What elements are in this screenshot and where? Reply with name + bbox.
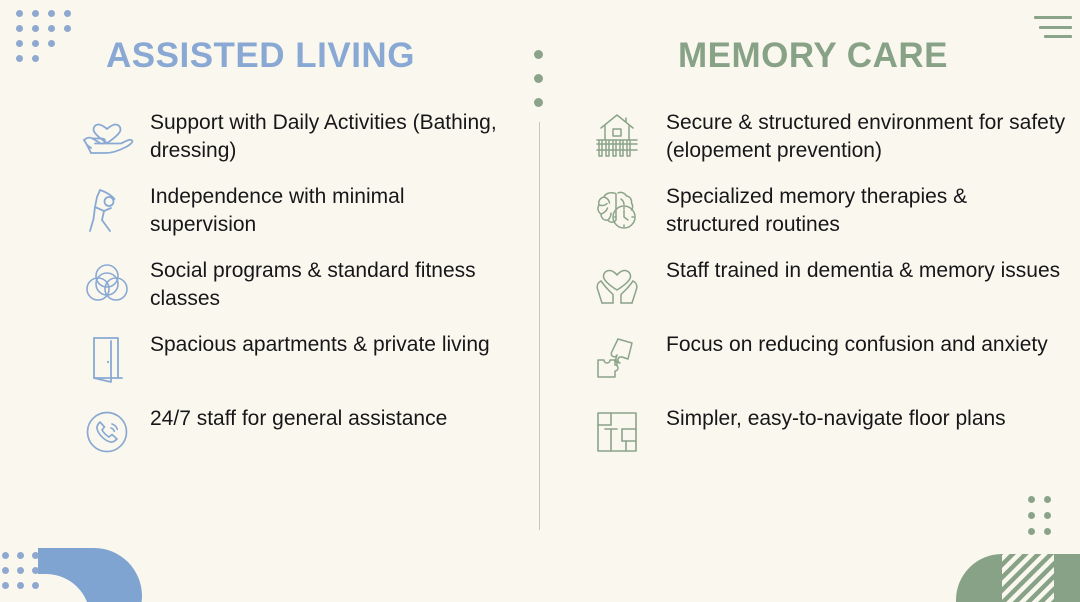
feature-item: Simpler, easy-to-navigate floor plans [586, 401, 1066, 463]
person-stretching-icon [76, 179, 138, 241]
column-title-memory-care: MEMORY CARE [678, 38, 1066, 73]
brain-clock-icon [586, 179, 648, 241]
house-with-fence-icon [586, 105, 648, 167]
feature-text: Social programs & standard fitness class… [150, 253, 506, 313]
feature-text: Staff trained in dementia & memory issue… [666, 253, 1060, 285]
feature-item: Independence with minimal supervision [76, 179, 506, 241]
open-door-icon [76, 327, 138, 389]
feature-item: Staff trained in dementia & memory issue… [586, 253, 1066, 315]
phone-ringing-icon [76, 401, 138, 463]
feature-text: Spacious apartments & private living [150, 327, 490, 359]
feature-text: Independence with minimal supervision [150, 179, 506, 239]
floor-plan-icon [586, 401, 648, 463]
heart-in-hand-icon [76, 105, 138, 167]
feature-item: Focus on reducing confusion and anxiety [586, 327, 1066, 389]
feature-item: 24/7 staff for general assistance [76, 401, 506, 463]
feature-item: Social programs & standard fitness class… [76, 253, 506, 315]
column-title-assisted-living: ASSISTED LIVING [106, 38, 506, 73]
comparison-columns: ASSISTED LIVING Support with Daily Activ… [0, 0, 1080, 602]
feature-item: Specialized memory therapies & structure… [586, 179, 1066, 241]
feature-text: Support with Daily Activities (Bathing, … [150, 105, 506, 165]
feature-item: Spacious apartments & private living [76, 327, 506, 389]
puzzle-pieces-icon [586, 327, 648, 389]
feature-text: Specialized memory therapies & structure… [666, 179, 1066, 239]
feature-item: Secure & structured environment for safe… [586, 105, 1066, 167]
slide-canvas: ASSISTED LIVING Support with Daily Activ… [0, 0, 1080, 602]
feature-text: Focus on reducing confusion and anxiety [666, 327, 1048, 359]
column-memory-care: MEMORY CARE [586, 38, 1066, 475]
feature-text: 24/7 staff for general assistance [150, 401, 447, 433]
feature-text: Secure & structured environment for safe… [666, 105, 1066, 165]
overlapping-circles-icon [76, 253, 138, 315]
heart-in-hands-icon [586, 253, 648, 315]
feature-item: Support with Daily Activities (Bathing, … [76, 105, 506, 167]
column-assisted-living: ASSISTED LIVING Support with Daily Activ… [76, 38, 506, 475]
feature-text: Simpler, easy-to-navigate floor plans [666, 401, 1006, 433]
